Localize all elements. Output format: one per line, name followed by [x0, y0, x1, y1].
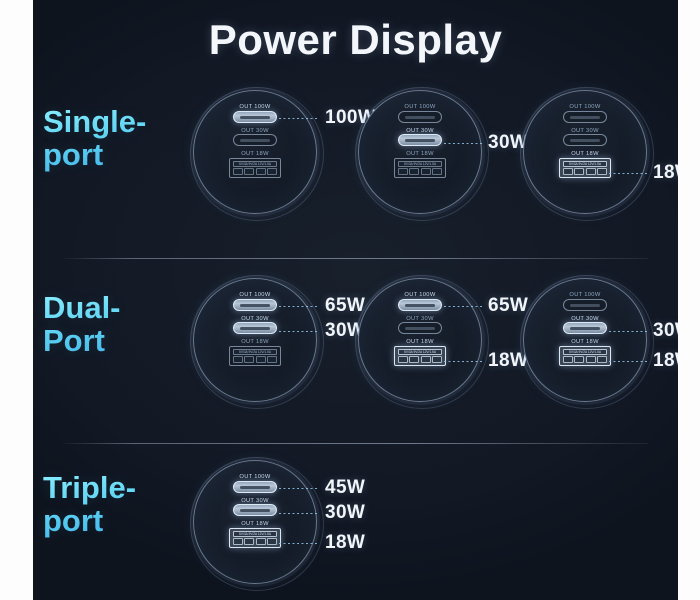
port-rating-label: OUT 30W	[530, 126, 640, 132]
port-callout-connector	[444, 143, 482, 144]
usb-a-contacts	[233, 538, 277, 545]
usb-c-port-group[interactable]: OUT 100W	[376, 292, 464, 311]
row-label-line2: port	[43, 505, 193, 538]
power-callout: 65W	[488, 295, 528, 317]
usb-c-port-group[interactable]: OUT 100W	[211, 292, 299, 311]
usb-c-pin	[240, 486, 270, 489]
port-callout-connector	[444, 306, 482, 307]
usb-a-contact	[233, 356, 243, 363]
port-rating-label: OUT 30W	[530, 314, 640, 320]
power-callout: 45W	[325, 477, 365, 499]
usb-c-port-icon[interactable]	[233, 322, 277, 334]
usb-a-spec-text: 5V/3A 9V/2A 12V/1.5A	[233, 531, 277, 537]
usb-c-port-icon[interactable]	[563, 322, 607, 334]
port-rating-label: OUT 30W	[365, 126, 475, 132]
power-callout: 65W	[325, 295, 365, 317]
row-label-line1: Single-	[43, 106, 193, 139]
usb-a-port-icon[interactable]: 5V/3A 9V/2A 12V/1.5A	[559, 158, 611, 178]
dark-panel: Power Display Single-portOUT 100WOUT 30W…	[33, 0, 678, 600]
usb-c-pin	[405, 139, 435, 142]
row-label: Single-port	[43, 106, 193, 172]
power-callout: 30W	[325, 502, 365, 524]
usb-a-contacts	[563, 356, 607, 363]
usb-a-contact	[586, 356, 596, 363]
usb-c-pin	[240, 139, 270, 142]
usb-c-pin	[240, 116, 270, 119]
page-title: Power Display	[33, 16, 678, 64]
usb-a-contact	[267, 356, 277, 363]
usb-a-contact	[267, 168, 277, 175]
usb-c-pin	[570, 116, 600, 119]
port-rating-label: OUT 30W	[365, 314, 475, 320]
row-label-line2: Port	[43, 325, 193, 358]
port-callout-connector	[609, 331, 647, 332]
usb-c-pin	[570, 139, 600, 142]
usb-c-pin	[405, 116, 435, 119]
usb-c-port-icon[interactable]	[398, 322, 442, 334]
row-divider-2	[63, 443, 648, 444]
port-callout-connector	[279, 543, 319, 544]
usb-a-contact	[233, 538, 243, 545]
port-rating-label: OUT 100W	[200, 103, 310, 109]
usb-c-port-group[interactable]: OUT 30W	[541, 128, 629, 147]
usb-c-port-group[interactable]: OUT 30W	[211, 128, 299, 147]
port-rating-label: OUT 18W	[200, 150, 310, 156]
usb-c-pin	[240, 304, 270, 307]
port-rating-label: OUT 30W	[200, 496, 310, 502]
usb-c-port-group[interactable]: OUT 100W	[211, 474, 299, 493]
power-callout: 18W	[653, 162, 678, 184]
usb-c-port-group[interactable]: OUT 100W	[541, 292, 629, 311]
usb-a-port-icon[interactable]: 5V/3A 9V/2A 12V/1.5A	[559, 346, 611, 366]
port-rating-label: OUT 100W	[530, 291, 640, 297]
usb-a-contact	[244, 538, 254, 545]
usb-a-port-group[interactable]: OUT 18W5V/3A 9V/2A 12V/1.5A	[376, 151, 464, 178]
usb-a-contact	[421, 356, 431, 363]
usb-a-port-icon[interactable]: 5V/3A 9V/2A 12V/1.5A	[229, 346, 281, 366]
usb-a-contact	[432, 356, 442, 363]
port-callout-connector	[279, 118, 319, 119]
usb-c-port-icon[interactable]	[563, 299, 607, 311]
port-rating-label: OUT 18W	[365, 338, 475, 344]
port-rating-label: OUT 18W	[200, 520, 310, 526]
usb-c-port-icon[interactable]	[398, 111, 442, 123]
usb-a-contact	[244, 168, 254, 175]
usb-a-port-icon[interactable]: 5V/3A 9V/2A 12V/1.5A	[394, 346, 446, 366]
port-rating-label: OUT 100W	[365, 291, 475, 297]
usb-a-contact	[398, 356, 408, 363]
usb-a-contact	[398, 168, 408, 175]
usb-c-port-group[interactable]: OUT 100W	[376, 104, 464, 123]
port-callout-connector	[279, 306, 319, 307]
usb-a-contact	[574, 168, 584, 175]
power-callout: 18W	[653, 350, 678, 372]
usb-a-contacts	[233, 168, 277, 175]
port-callout-connector	[609, 361, 647, 362]
port-rating-label: OUT 100W	[200, 291, 310, 297]
usb-a-contact	[574, 356, 584, 363]
port-stack: OUT 100WOUT 30WOUT 18W5V/3A 9V/2A 12V/1.…	[376, 292, 464, 371]
usb-a-contact	[597, 168, 607, 175]
usb-a-contact	[563, 356, 573, 363]
usb-c-port-icon[interactable]	[563, 111, 607, 123]
usb-c-port-icon[interactable]	[233, 481, 277, 493]
port-stack: OUT 100WOUT 30WOUT 18W5V/3A 9V/2A 12V/1.…	[211, 104, 299, 183]
usb-a-port-icon[interactable]: 5V/3A 9V/2A 12V/1.5A	[394, 158, 446, 178]
row-divider-1	[63, 258, 648, 259]
usb-a-spec-text: 5V/3A 9V/2A 12V/1.5A	[398, 349, 442, 355]
row-label: Dual-Port	[43, 292, 193, 358]
usb-c-pin	[570, 304, 600, 307]
usb-c-port-icon[interactable]	[233, 134, 277, 146]
port-rating-label: OUT 18W	[200, 338, 310, 344]
usb-c-port-icon[interactable]	[233, 504, 277, 516]
usb-c-pin	[240, 509, 270, 512]
port-rating-label: OUT 18W	[365, 150, 475, 156]
usb-a-spec-text: 5V/3A 9V/2A 12V/1.5A	[563, 349, 607, 355]
usb-a-contact	[421, 168, 431, 175]
power-display-graphic: Power Display Single-portOUT 100WOUT 30W…	[0, 0, 700, 600]
usb-c-port-group[interactable]: OUT 100W	[211, 104, 299, 123]
usb-a-contacts	[233, 356, 277, 363]
usb-c-pin	[570, 327, 600, 330]
section-single-port: Single-portOUT 100WOUT 30WOUT 18W5V/3A 9…	[33, 90, 678, 240]
port-rating-label: OUT 30W	[200, 126, 310, 132]
usb-c-port-icon[interactable]	[398, 299, 442, 311]
power-callout: 18W	[325, 532, 365, 554]
usb-a-port-icon[interactable]: 5V/3A 9V/2A 12V/1.5A	[229, 528, 281, 548]
usb-a-contact	[267, 538, 277, 545]
usb-c-pin	[405, 327, 435, 330]
section-dual-port: Dual-PortOUT 100WOUT 30WOUT 18W5V/3A 9V/…	[33, 278, 678, 423]
port-rating-label: OUT 18W	[530, 150, 640, 156]
usb-c-port-group[interactable]: OUT 100W	[541, 104, 629, 123]
usb-c-port-icon[interactable]	[233, 111, 277, 123]
usb-a-contact	[409, 168, 419, 175]
usb-c-pin	[240, 327, 270, 330]
usb-c-port-icon[interactable]	[398, 134, 442, 146]
usb-a-contact	[563, 168, 573, 175]
row-label-line2: port	[43, 139, 193, 172]
row-label-line1: Triple-	[43, 472, 193, 505]
usb-a-spec-text: 5V/3A 9V/2A 12V/1.5A	[233, 349, 277, 355]
usb-c-port-icon[interactable]	[233, 299, 277, 311]
port-rating-label: OUT 18W	[530, 338, 640, 344]
usb-a-contact	[597, 356, 607, 363]
usb-a-contact	[256, 356, 266, 363]
power-callout: 30W	[653, 320, 678, 342]
usb-a-contacts	[398, 168, 442, 175]
port-callout-connector	[279, 513, 319, 514]
port-callout-connector	[279, 331, 319, 332]
port-stack: OUT 100WOUT 30WOUT 18W5V/3A 9V/2A 12V/1.…	[541, 104, 629, 183]
port-rating-label: OUT 100W	[530, 103, 640, 109]
section-triple-port: Triple-portOUT 100WOUT 30WOUT 18W5V/3A 9…	[33, 460, 678, 585]
port-rating-label: OUT 30W	[200, 314, 310, 320]
row-label-line1: Dual-	[43, 292, 193, 325]
port-callout-connector	[279, 488, 319, 489]
port-callout-connector	[609, 173, 647, 174]
row-label: Triple-port	[43, 472, 193, 538]
usb-a-port-icon[interactable]: 5V/3A 9V/2A 12V/1.5A	[229, 158, 281, 178]
usb-a-contact	[409, 356, 419, 363]
usb-a-contact	[244, 356, 254, 363]
usb-a-port-group[interactable]: OUT 18W5V/3A 9V/2A 12V/1.5A	[211, 151, 299, 178]
port-rating-label: OUT 100W	[200, 473, 310, 479]
usb-a-spec-text: 5V/3A 9V/2A 12V/1.5A	[233, 161, 277, 167]
usb-a-port-group[interactable]: OUT 18W5V/3A 9V/2A 12V/1.5A	[211, 339, 299, 366]
usb-a-spec-text: 5V/3A 9V/2A 12V/1.5A	[563, 161, 607, 167]
usb-a-contacts	[398, 356, 442, 363]
usb-a-contact	[256, 168, 266, 175]
port-rating-label: OUT 100W	[365, 103, 475, 109]
usb-a-contact	[586, 168, 596, 175]
usb-a-spec-text: 5V/3A 9V/2A 12V/1.5A	[398, 161, 442, 167]
usb-c-port-group[interactable]: OUT 30W	[376, 316, 464, 335]
usb-a-contacts	[563, 168, 607, 175]
usb-a-contact	[233, 168, 243, 175]
usb-c-pin	[405, 304, 435, 307]
port-callout-connector	[444, 361, 482, 362]
usb-c-port-icon[interactable]	[563, 134, 607, 146]
usb-a-contact	[256, 538, 266, 545]
usb-a-contact	[432, 168, 442, 175]
